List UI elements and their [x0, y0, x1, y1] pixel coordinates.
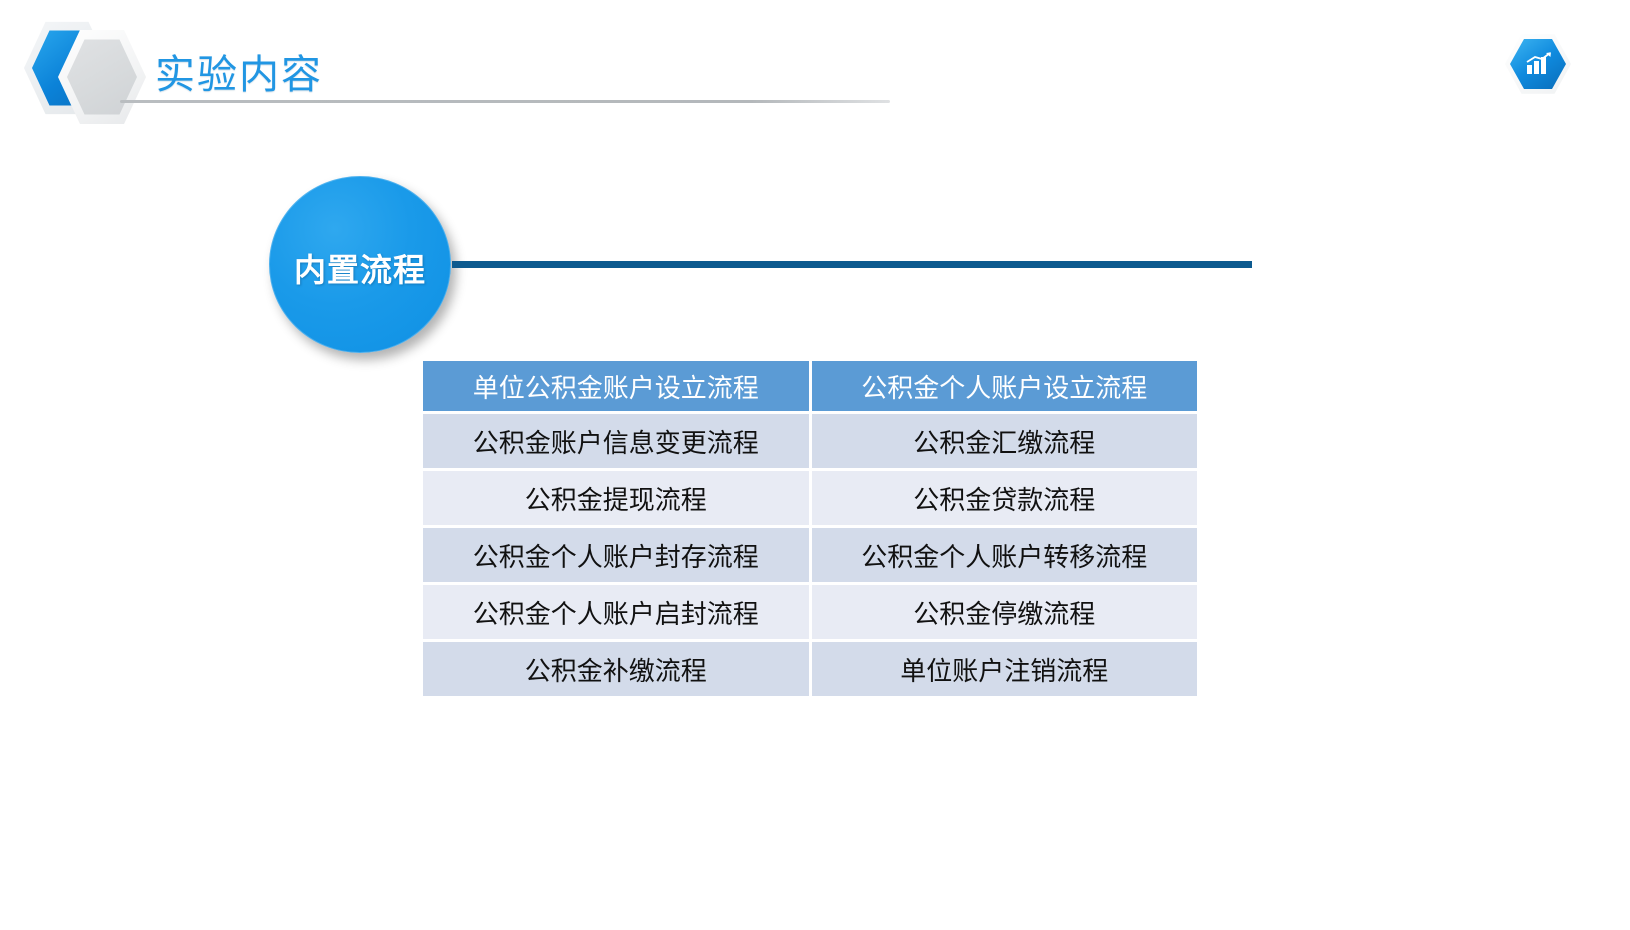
table-header-row: 单位公积金账户设立流程 公积金个人账户设立流程 — [423, 361, 1197, 411]
table-cell: 单位账户注销流程 — [812, 642, 1198, 696]
table-row: 公积金个人账户启封流程 公积金停缴流程 — [423, 585, 1197, 639]
table-header-cell: 公积金个人账户设立流程 — [812, 361, 1198, 411]
table-header-cell: 单位公积金账户设立流程 — [423, 361, 809, 411]
table-row: 公积金提现流程 公积金贷款流程 — [423, 471, 1197, 525]
callout-circle: 内置流程 — [269, 176, 451, 353]
table-row: 公积金个人账户封存流程 公积金个人账户转移流程 — [423, 528, 1197, 582]
bar-chart-growth-icon — [1505, 33, 1571, 95]
hexagon-gray-decoration-icon — [58, 28, 146, 126]
callout-label: 内置流程 — [294, 245, 426, 291]
table-cell: 公积金个人账户启封流程 — [423, 585, 809, 639]
table-cell: 公积金账户信息变更流程 — [423, 414, 809, 468]
process-table: 单位公积金账户设立流程 公积金个人账户设立流程 公积金账户信息变更流程 公积金汇… — [420, 358, 1200, 699]
table-cell: 公积金停缴流程 — [812, 585, 1198, 639]
table-row: 公积金补缴流程 单位账户注销流程 — [423, 642, 1197, 696]
table-cell: 公积金汇缴流程 — [812, 414, 1198, 468]
table-row: 公积金账户信息变更流程 公积金汇缴流程 — [423, 414, 1197, 468]
table-cell: 公积金个人账户转移流程 — [812, 528, 1198, 582]
header-divider — [120, 100, 890, 103]
table-cell: 公积金个人账户封存流程 — [423, 528, 809, 582]
slide-header: 实验内容 — [0, 0, 1630, 130]
page-title: 实验内容 — [155, 42, 323, 100]
table-cell: 公积金贷款流程 — [812, 471, 1198, 525]
table-cell: 公积金补缴流程 — [423, 642, 809, 696]
callout-rule — [452, 261, 1252, 268]
table-cell: 公积金提现流程 — [423, 471, 809, 525]
process-table-body: 单位公积金账户设立流程 公积金个人账户设立流程 公积金账户信息变更流程 公积金汇… — [423, 361, 1197, 696]
